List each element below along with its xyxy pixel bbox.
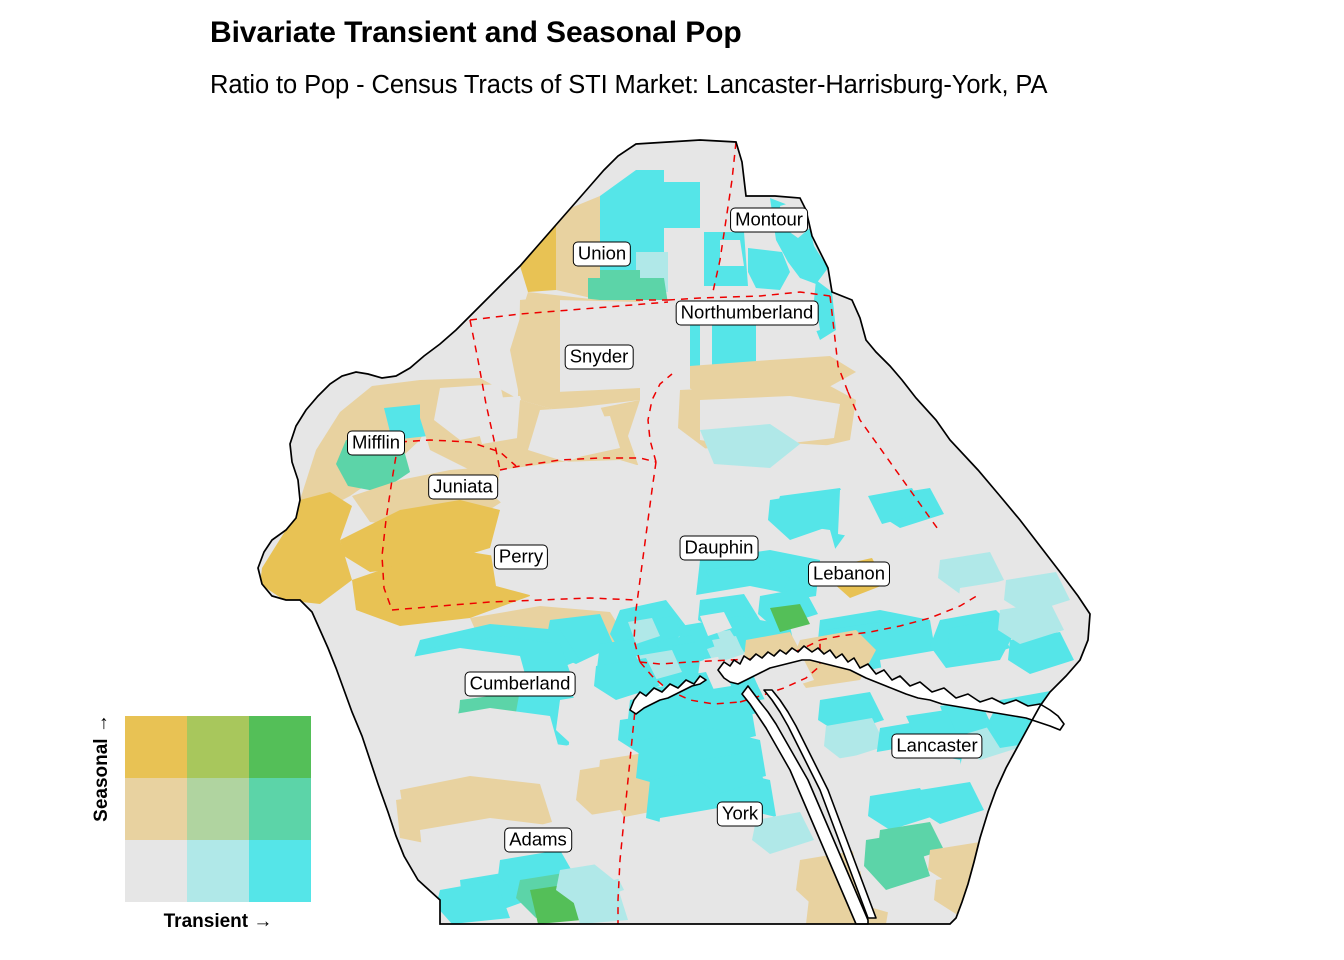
legend-cell-7 — [187, 840, 249, 902]
legend-cell-8 — [249, 840, 311, 902]
legend-cell-5 — [249, 778, 311, 840]
bivariate-legend: Seasonal → Transient → — [78, 700, 338, 950]
legend-cell-0 — [125, 716, 187, 778]
legend-x-axis-label: Transient → — [125, 911, 311, 933]
county-label-northumberland: Northumberland — [676, 301, 819, 326]
county-label-juniata: Juniata — [428, 475, 498, 500]
tract-layer — [240, 120, 1120, 940]
county-label-york: York — [717, 802, 763, 827]
legend-cell-3 — [125, 778, 187, 840]
legend-y-axis-label: Seasonal → — [91, 698, 113, 838]
county-label-mifflin: Mifflin — [347, 431, 405, 456]
legend-cell-2 — [249, 716, 311, 778]
county-label-dauphin: Dauphin — [680, 536, 759, 561]
county-label-union: Union — [573, 242, 631, 267]
county-label-snyder: Snyder — [565, 345, 634, 370]
county-label-montour: Montour — [730, 208, 808, 233]
county-label-lebanon: Lebanon — [808, 562, 890, 587]
county-label-perry: Perry — [494, 545, 548, 570]
county-label-cumberland: Cumberland — [465, 672, 576, 697]
legend-cell-4 — [187, 778, 249, 840]
legend-color-grid — [125, 716, 311, 902]
legend-cell-1 — [187, 716, 249, 778]
county-label-adams: Adams — [504, 828, 572, 853]
legend-cell-6 — [125, 840, 187, 902]
county-label-lancaster: Lancaster — [891, 734, 982, 759]
